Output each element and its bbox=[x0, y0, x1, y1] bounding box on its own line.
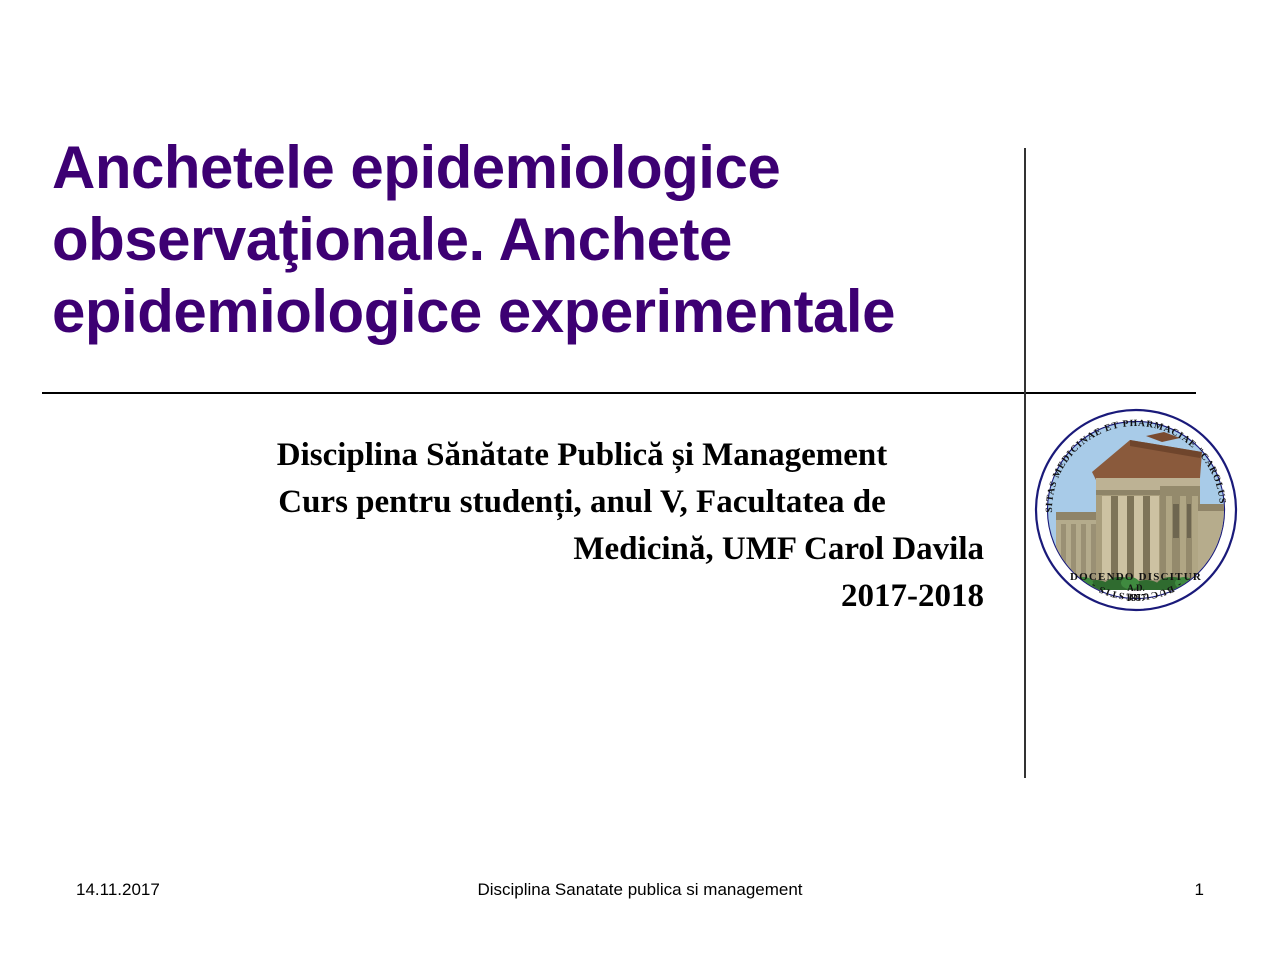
title-line-3: epidemiologice experimentale bbox=[52, 276, 992, 348]
seal-year-text: 1857 bbox=[1126, 593, 1146, 604]
slide-subtitle: Disciplina Sănătate Publică și Managemen… bbox=[180, 432, 984, 620]
seal-motto-text: DOCENDO DISCITUR bbox=[1070, 571, 1202, 583]
seal-ad-text: A.D. bbox=[1127, 583, 1145, 593]
horizontal-divider bbox=[42, 392, 1196, 394]
subtitle-line-1: Disciplina Sănătate Publică și Managemen… bbox=[180, 432, 984, 479]
subtitle-line-3: Medicină, UMF Carol Davila bbox=[180, 526, 984, 573]
subtitle-line-2: Curs pentru studenți, anul V, Facultatea… bbox=[180, 479, 984, 526]
title-line-1: Anchetele epidemiologice bbox=[52, 132, 992, 204]
umf-carol-davila-seal-icon: UNIVERSITAS MEDICINAE ET PHARMACIAE "CAR… bbox=[1034, 400, 1238, 620]
footer-page-number: 1 bbox=[1195, 880, 1204, 900]
slide-title: Anchetele epidemiologice observaţionale.… bbox=[52, 132, 992, 348]
vertical-divider bbox=[1024, 148, 1026, 778]
slide-canvas: Anchetele epidemiologice observaţionale.… bbox=[0, 0, 1280, 960]
title-line-2: observaţionale. Anchete bbox=[52, 204, 992, 276]
slide-footer: 14.11.2017 Disciplina Sanatate publica s… bbox=[0, 880, 1280, 916]
footer-center-text: Disciplina Sanatate publica si managemen… bbox=[0, 880, 1280, 900]
subtitle-line-4: 2017-2018 bbox=[180, 573, 984, 620]
